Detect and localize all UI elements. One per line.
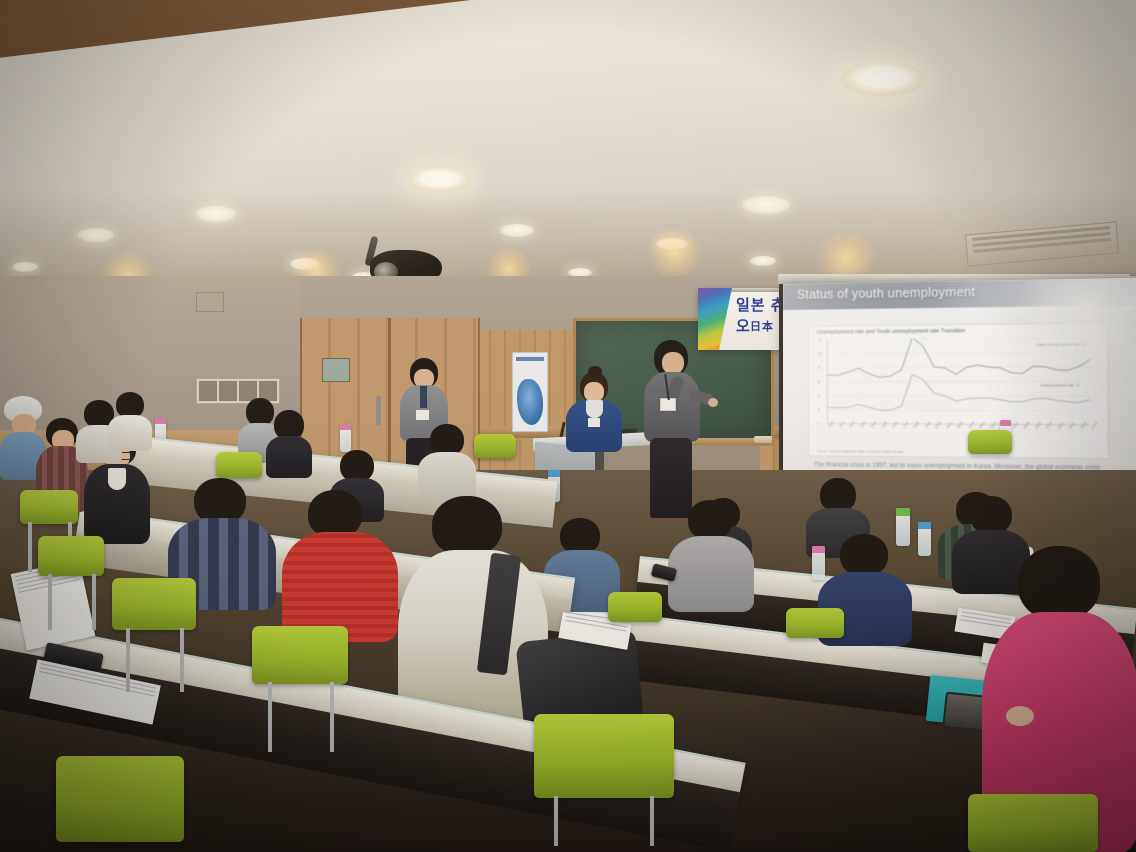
chart-x-tick-labels: 1990199119921993199419951996199719981999… bbox=[827, 426, 1090, 450]
seated-hair-bun bbox=[588, 366, 602, 377]
water-bottle[interactable] bbox=[918, 522, 931, 556]
chair-leg bbox=[92, 574, 96, 630]
chair-back bbox=[786, 608, 844, 638]
staff-badge bbox=[416, 410, 429, 420]
ceiling-light-icon bbox=[750, 256, 776, 266]
chart-title: Unemployment rate and Youth unemployment… bbox=[817, 328, 966, 336]
slide-title: Status of youth unemployment bbox=[797, 285, 975, 302]
audience-head bbox=[432, 496, 502, 556]
chalkboard-eraser-icon[interactable] bbox=[754, 436, 772, 443]
chair-leg bbox=[48, 574, 52, 630]
chair-leg bbox=[126, 628, 130, 692]
audience-head bbox=[688, 500, 732, 540]
presenter-seated bbox=[566, 372, 622, 452]
door-window bbox=[322, 358, 350, 382]
chair-back bbox=[112, 578, 196, 630]
audience-member bbox=[266, 410, 312, 476]
ceiling-beam-dark bbox=[0, 0, 1136, 61]
ceiling-light-icon bbox=[840, 62, 926, 96]
chair-leg bbox=[268, 682, 272, 752]
chair-back bbox=[20, 490, 78, 524]
ceiling bbox=[0, 0, 1136, 300]
seated-badge bbox=[588, 418, 600, 427]
bottle-cap bbox=[896, 508, 910, 516]
ceiling-light-icon bbox=[196, 206, 236, 222]
chair-back bbox=[474, 434, 516, 458]
audience-member-red bbox=[282, 490, 398, 640]
ceiling-light-icon bbox=[12, 262, 38, 272]
chair-back bbox=[968, 430, 1012, 454]
chair-leg bbox=[330, 682, 334, 752]
chair-back bbox=[38, 536, 104, 576]
ceiling-light-icon bbox=[408, 168, 470, 192]
seated-collar bbox=[586, 400, 603, 418]
chair-back bbox=[968, 794, 1098, 852]
shirt-collar bbox=[108, 468, 126, 490]
audience-torso bbox=[418, 452, 476, 500]
chart-y-tick: 2 bbox=[818, 408, 820, 412]
audience-hand bbox=[1006, 706, 1034, 726]
audience-member bbox=[418, 424, 476, 498]
door-handle-icon[interactable] bbox=[376, 396, 381, 426]
poster-graphic bbox=[517, 379, 543, 425]
ceiling-light-icon bbox=[78, 228, 114, 242]
chart-series-label-total: Unemployment rate, % bbox=[1030, 383, 1090, 388]
banner-left-line2: 日本 bbox=[750, 318, 774, 334]
ceiling-light-icon bbox=[500, 224, 534, 237]
audience-torso bbox=[108, 415, 152, 451]
ceiling-light-icon bbox=[742, 196, 790, 214]
presenter-face bbox=[662, 352, 684, 374]
wall-speaker-icon bbox=[196, 292, 224, 312]
audience-head bbox=[560, 518, 600, 554]
audience-head bbox=[970, 496, 1012, 534]
audience-head bbox=[820, 478, 856, 512]
chair-back bbox=[252, 626, 348, 684]
chart-y-tick: 8 bbox=[818, 366, 820, 370]
seated-face bbox=[584, 382, 604, 402]
audience-torso bbox=[266, 436, 312, 478]
chair-leg bbox=[180, 628, 184, 692]
bottle-cap bbox=[1000, 420, 1011, 426]
bottle-cap bbox=[340, 424, 351, 430]
chair-leg bbox=[28, 522, 32, 572]
chart-x-tick: 2014 bbox=[1090, 421, 1098, 430]
audience-head bbox=[840, 534, 888, 576]
bottle-cap bbox=[548, 470, 560, 477]
audience-member-gray-suit bbox=[668, 500, 754, 610]
lecture-hall-photo: 일본 츄오 日本 프로그램 학생교류 交流 Semi 18호 Status of… bbox=[0, 0, 1136, 852]
chair-back bbox=[216, 452, 262, 478]
chart-y-tick: 4 bbox=[818, 394, 820, 398]
chart-y-tick: 6 bbox=[818, 380, 820, 384]
chart-y-tick: 0 bbox=[818, 422, 820, 426]
chart-y-tick: 12 bbox=[818, 338, 822, 342]
chair-back bbox=[534, 714, 674, 798]
bottle-cap bbox=[918, 522, 931, 529]
chair-back bbox=[56, 756, 184, 842]
light-glow bbox=[648, 228, 702, 278]
water-bottle[interactable] bbox=[340, 424, 351, 452]
audience-head bbox=[1018, 546, 1100, 620]
staff-tie bbox=[420, 386, 427, 408]
chair-leg bbox=[554, 796, 558, 846]
audience-head bbox=[308, 490, 362, 538]
presenter-hand bbox=[708, 398, 718, 407]
chair-back bbox=[608, 592, 662, 622]
chart-source-note: Source : National Statistical Office, ec… bbox=[817, 449, 903, 454]
chart-y-tick: 10 bbox=[818, 352, 822, 356]
door-divider bbox=[388, 318, 391, 478]
bottle-cap bbox=[155, 418, 166, 424]
wall-poster bbox=[512, 352, 548, 432]
chair-leg bbox=[650, 796, 654, 846]
audience-member bbox=[108, 392, 152, 448]
poster-header bbox=[516, 357, 544, 361]
presenter-standing bbox=[640, 340, 714, 518]
audience-torso bbox=[668, 536, 754, 612]
